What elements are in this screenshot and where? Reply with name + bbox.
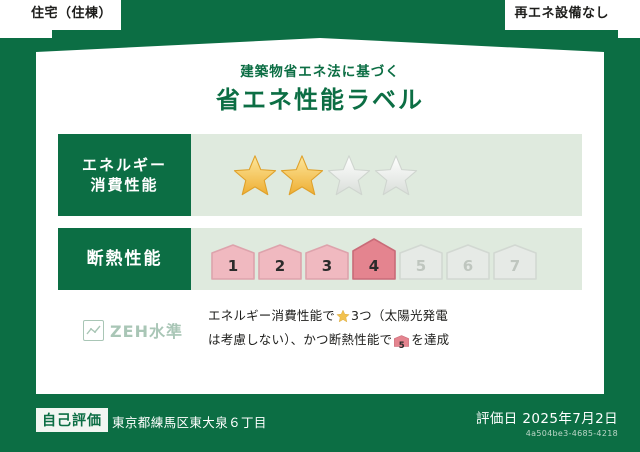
energy-head-line2: 消費性能 [90,175,158,195]
insulation-level-1: 1 [211,244,255,280]
star-filled-icon [233,154,277,196]
label-panel: 建築物省エネ法に基づく 省エネ性能ラベル エネルギー 消費性能 断熱性能 123… [36,38,604,394]
insulation-level-number: 2 [258,257,302,275]
insulation-level-3: 3 [305,244,349,280]
zeh-standard-mark: ZEH水準 [58,318,208,342]
star-filled-icon [280,154,324,196]
insulation-performance-label-head: 断熱性能 [58,228,191,290]
energy-performance-value [191,134,582,216]
star-empty-icon [374,154,418,196]
insulation-level-number: 7 [493,257,537,275]
insulation-level-number: 1 [211,257,255,275]
zeh-chart-icon [83,320,104,341]
insulation-level-5: 5 [399,244,443,280]
energy-performance-row: エネルギー 消費性能 [58,134,582,216]
evaluation-date-label: 評価日 [476,411,518,427]
header-notch-right [618,0,640,38]
note-star-icon [336,309,350,330]
note-house-number: 5 [394,339,409,353]
label-subtitle: 建築物省エネ法に基づく [36,60,604,80]
self-assessment-badge: 自己評価 [36,408,108,432]
note-part2: 3つ（太陽光発電 [351,308,448,323]
star-empty-icon [327,154,371,196]
insulation-level-number: 6 [446,257,490,275]
insulation-level-number: 3 [305,257,349,275]
label-footer: 自己評価 東京都練馬区東大泉６丁目 評価日 2025年7月2日 4a504be3… [0,394,640,452]
note-part4: を達成 [411,332,449,347]
insulation-level-2: 2 [258,244,302,280]
evaluation-date-value: 2025年7月2日 [522,411,618,427]
insulation-level-6: 6 [446,244,490,280]
energy-head-line1: エネルギー [82,155,167,175]
insulation-performance-value: 1234567 [191,228,582,290]
note-house-icon: 5 [394,334,409,355]
insulation-level-scale: 1234567 [211,238,537,280]
zeh-standard-label: ZEH水準 [110,318,183,342]
achievement-note: エネルギー消費性能で 3つ（太陽光発電 は考慮しない）、かつ断熱性能で 5 を達… [208,306,582,354]
insulation-head-text: 断熱性能 [87,248,163,271]
insulation-level-7: 7 [493,244,537,280]
energy-performance-label-head: エネルギー 消費性能 [58,134,191,216]
insulation-level-number: 4 [352,257,396,275]
energy-performance-label: 住宅（住棟） 再エネ設備なし 建築物省エネ法に基づく 省エネ性能ラベル エネルギ… [0,0,640,452]
page-title: 省エネ性能ラベル [36,80,604,115]
renewable-equipment-tag: 再エネ設備なし [505,0,618,30]
insulation-performance-row: 断熱性能 1234567 [58,228,582,290]
zeh-note-section: ZEH水準 エネルギー消費性能で 3つ（太陽光発電 は考慮しない）、かつ断熱性能… [58,306,582,354]
insulation-level-number: 5 [399,257,443,275]
building-type-tag: 住宅（住棟） [22,0,121,30]
property-address: 東京都練馬区東大泉６丁目 [112,412,267,431]
insulation-level-4: 4 [352,238,396,280]
evaluation-id: 4a504be3-4685-4218 [476,429,618,438]
evaluation-date-line: 評価日 2025年7月2日 [476,407,618,427]
star-rating [233,154,418,196]
evaluation-info: 評価日 2025年7月2日 4a504be3-4685-4218 [476,407,618,438]
note-part1: エネルギー消費性能で [208,308,335,323]
note-part3: は考慮しない）、かつ断熱性能で [208,332,392,347]
